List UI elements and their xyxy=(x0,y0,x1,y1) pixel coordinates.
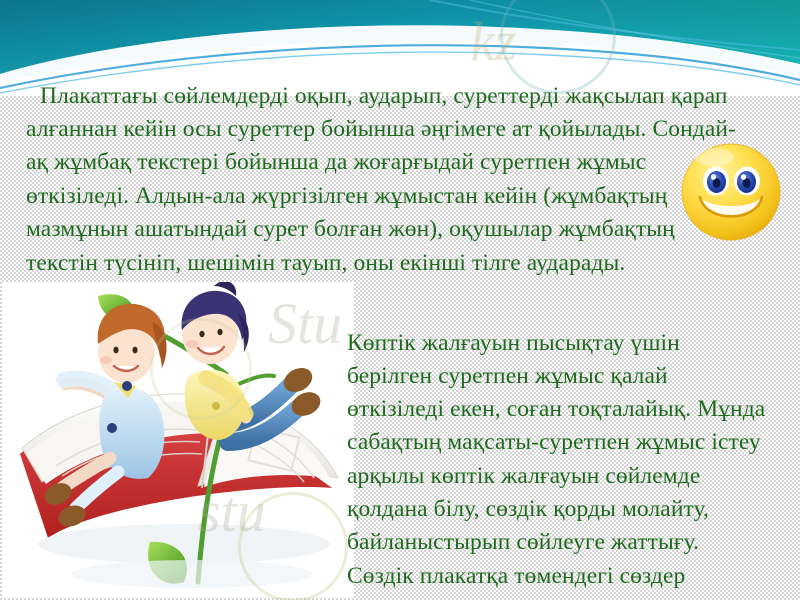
smiling-face-icon xyxy=(678,139,784,243)
top-paragraph-text: Плакаттағы сөйлемдерді оқып, аударып, су… xyxy=(26,80,742,280)
children-on-book-illustration xyxy=(2,282,354,598)
presentation-slide: kz Плакаттағы сөйлемдерді оқып, аударып,… xyxy=(0,0,800,600)
watermark-top: kz xyxy=(469,9,518,75)
bottom-paragraph-text: Көптік жалғауын пысықтау үшін берілген с… xyxy=(347,327,767,600)
